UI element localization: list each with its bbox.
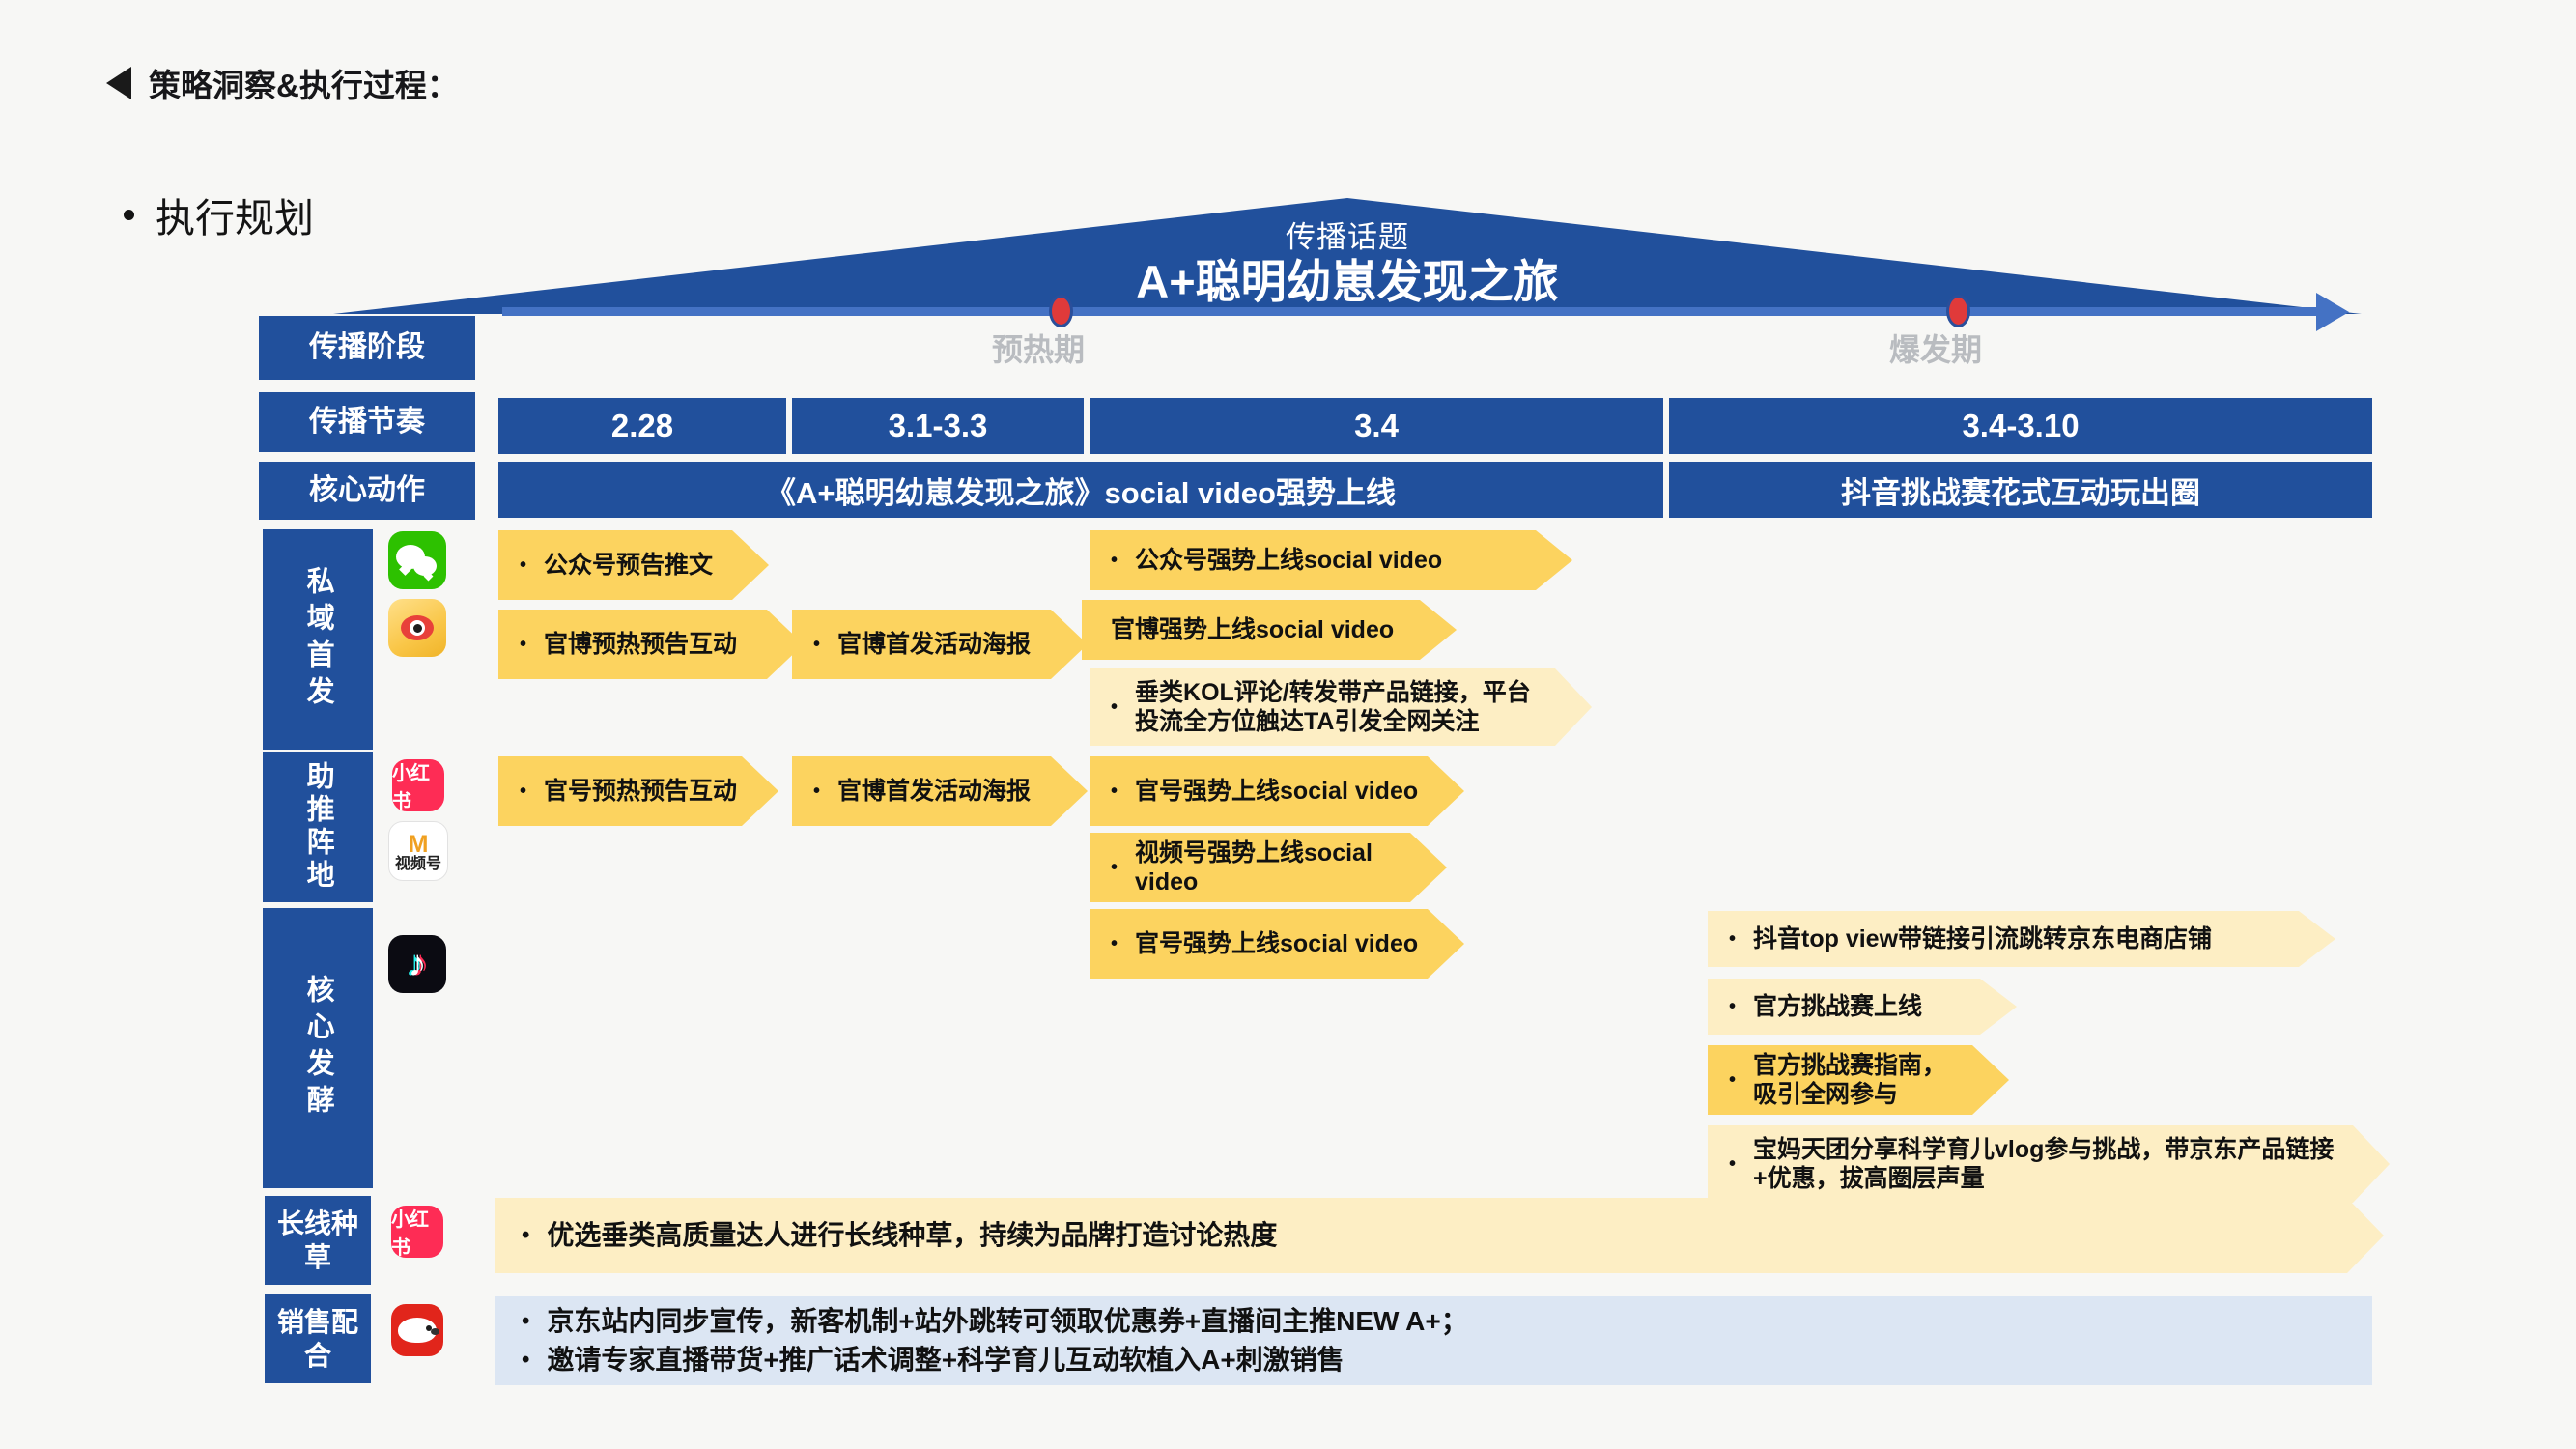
bullet-icon: •	[1729, 929, 1736, 949]
card-text: 官号强势上线social video	[1135, 777, 1426, 807]
timeline-phase-label-1: 爆发期	[1889, 326, 1982, 370]
row-label-phase: 传播阶段	[259, 316, 475, 380]
channels-mark-icon: M	[409, 835, 429, 854]
date-cell-1: 3.1-3.3	[792, 398, 1084, 454]
bullet-icon: •	[813, 781, 820, 801]
card-text: 官方挑战赛上线	[1753, 992, 1978, 1022]
bullet-icon: •	[1111, 697, 1118, 717]
bullet-icon: •	[1729, 1070, 1736, 1090]
row-label-private-domain: 私域首发	[263, 529, 373, 750]
card-boost-0[interactable]: • 官号预热预告互动	[498, 756, 778, 826]
card-text: 公众号强势上线social video	[1135, 546, 1534, 576]
timeline-node-marker	[1946, 295, 1970, 327]
card-ferment-0[interactable]: • 抖音top view带链接引流跳转京东电商店铺	[1708, 911, 2335, 967]
timeline-phase-label-0: 预热期	[992, 326, 1085, 370]
row-label-core-action: 核心动作	[259, 462, 475, 520]
platform-icons-boost: 小红书 M 视频号	[388, 759, 448, 881]
xhs-label: 小红书	[392, 759, 444, 811]
bullet-icon: •	[1111, 781, 1118, 801]
bullet-icon: •	[1111, 858, 1118, 877]
bullet-icon: •	[1111, 551, 1118, 570]
bullet-icon: •	[522, 1349, 529, 1372]
card-boost-4[interactable]: • 官号强势上线social video	[1090, 909, 1464, 979]
card-boost-1[interactable]: • 官博首发活动海报	[792, 756, 1088, 826]
card-boost-2[interactable]: • 官号强势上线social video	[1090, 756, 1464, 826]
platform-icons-private	[388, 531, 446, 657]
card-text: 视频号强势上线social video	[1135, 838, 1408, 897]
xiaohongshu-icon: 小红书	[391, 1206, 443, 1258]
card-longterm-0[interactable]: • 优选垂类高质量达人进行长线种草，持续为品牌打造讨论热度	[495, 1198, 2384, 1273]
card-text: 官方挑战赛指南，吸引全网参与	[1753, 1051, 1970, 1110]
row-label-boost: 助推阵地	[263, 752, 373, 902]
card-text: 官博强势上线social video	[1111, 615, 1418, 645]
bullet-icon: •	[1111, 934, 1118, 953]
card-ferment-1[interactable]: • 官方挑战赛上线	[1708, 979, 2017, 1035]
bullet-icon: •	[522, 1310, 529, 1333]
card-private-3[interactable]: • 公众号强势上线social video	[1090, 530, 1572, 590]
card-ferment-3[interactable]: • 宝妈天团分享科学育儿vlog参与挑战，带京东产品链接+优惠，拔高圈层声量	[1708, 1125, 2390, 1203]
bullet-icon: •	[520, 781, 526, 801]
card-text: 官号强势上线social video	[1135, 929, 1426, 959]
card-sales-block[interactable]: • 京东站内同步宣传，新客机制+站外跳转可领取优惠券+直播间主推NEW A+； …	[495, 1296, 2372, 1385]
section-bullet-label: 执行规划	[156, 185, 314, 243]
card-private-1[interactable]: • 官博预热预告互动	[498, 610, 804, 679]
card-text: 抖音top view带链接引流跳转京东电商店铺	[1753, 924, 2297, 954]
card-text: 公众号预告推文	[544, 551, 730, 581]
bullet-icon: •	[522, 1224, 529, 1247]
platform-icons-longterm: 小红书	[391, 1206, 443, 1258]
section-bullet: 执行规划	[124, 185, 314, 243]
platform-icons-sales	[391, 1304, 443, 1356]
card-text: 宝妈天团分享科学育儿vlog参与挑战，带京东产品链接+优惠，拔高圈层声量	[1753, 1135, 2351, 1194]
card-private-4[interactable]: 官博强势上线social video	[1082, 600, 1457, 660]
douyin-icon: ♪	[388, 935, 446, 993]
bullet-icon: •	[520, 635, 526, 654]
left-triangle-marker-icon	[106, 67, 131, 99]
wechat-icon	[388, 531, 446, 589]
row-label-longterm: 长线种草	[265, 1196, 371, 1285]
bullet-icon: •	[1729, 1154, 1736, 1174]
card-text: 京东站内同步宣传，新客机制+站外跳转可领取优惠券+直播间主推NEW A+；	[547, 1305, 2353, 1338]
wechat-channels-icon: M 视频号	[388, 821, 448, 881]
card-text: 官号预热预告互动	[544, 777, 740, 807]
weibo-icon	[388, 599, 446, 657]
right-arrow-icon	[2316, 293, 2349, 331]
card-private-5[interactable]: • 垂类KOL评论/转发带产品链接，平台投流全方位触达TA引发全网关注	[1090, 668, 1592, 746]
row-label-sales: 销售配合	[265, 1294, 371, 1383]
page-title-text: 策略洞察&执行过程：	[149, 60, 459, 106]
date-cell-0: 2.28	[498, 398, 786, 454]
card-private-0[interactable]: • 公众号预告推文	[498, 530, 769, 600]
card-text: 官博首发活动海报	[837, 630, 1049, 660]
card-private-2[interactable]: • 官博首发活动海报	[792, 610, 1088, 679]
card-text: 官博预热预告互动	[544, 630, 765, 660]
card-text: 垂类KOL评论/转发带产品链接，平台投流全方位触达TA引发全网关注	[1135, 678, 1553, 737]
page-title: 策略洞察&执行过程：	[106, 60, 459, 106]
date-cell-2: 3.4	[1090, 398, 1663, 454]
card-sales-0: • 京东站内同步宣传，新客机制+站外跳转可领取优惠券+直播间主推NEW A+；	[522, 1305, 2353, 1338]
row-label-ferment: 核心发酵	[263, 908, 373, 1188]
xhs-label: 小红书	[391, 1206, 443, 1258]
bullet-icon: •	[1729, 997, 1736, 1016]
date-cell-3: 3.4-3.10	[1669, 398, 2372, 454]
xiaohongshu-icon: 小红书	[392, 759, 444, 811]
card-sales-1: • 邀请专家直播带货+推广话术调整+科学育儿互动软植入A+刺激销售	[522, 1344, 2353, 1377]
card-text: 官博首发活动海报	[837, 777, 1049, 807]
core-action-cell-0: 《A+聪明幼崽发现之旅》social video强势上线	[498, 462, 1663, 518]
timeline-axis	[502, 307, 2323, 316]
bullet-icon: •	[520, 555, 526, 575]
core-action-cell-1: 抖音挑战赛花式互动玩出圈	[1669, 462, 2372, 518]
douyin-note-glyph: ♪	[409, 946, 427, 982]
bullet-dot-icon	[124, 210, 134, 220]
bullet-icon: •	[813, 635, 820, 654]
card-ferment-2[interactable]: • 官方挑战赛指南，吸引全网参与	[1708, 1045, 2009, 1115]
slide-canvas: 策略洞察&执行过程： 执行规划 传播话题 A+聪明幼崽发现之旅 预热期 爆发期 …	[0, 0, 2576, 1449]
timeline-node-marker	[1049, 295, 1073, 327]
card-boost-3[interactable]: • 视频号强势上线social video	[1090, 833, 1447, 902]
platform-icons-ferment: ♪	[388, 935, 446, 993]
channels-label: 视频号	[395, 857, 441, 872]
card-text: 邀请专家直播带货+推广话术调整+科学育儿互动软植入A+刺激销售	[547, 1344, 2353, 1377]
jd-icon	[391, 1304, 443, 1356]
campaign-banner-shape	[333, 198, 2362, 314]
card-text: 优选垂类高质量达人进行长线种草，持续为品牌打造讨论热度	[547, 1219, 2345, 1252]
row-label-rhythm: 传播节奏	[259, 392, 475, 452]
